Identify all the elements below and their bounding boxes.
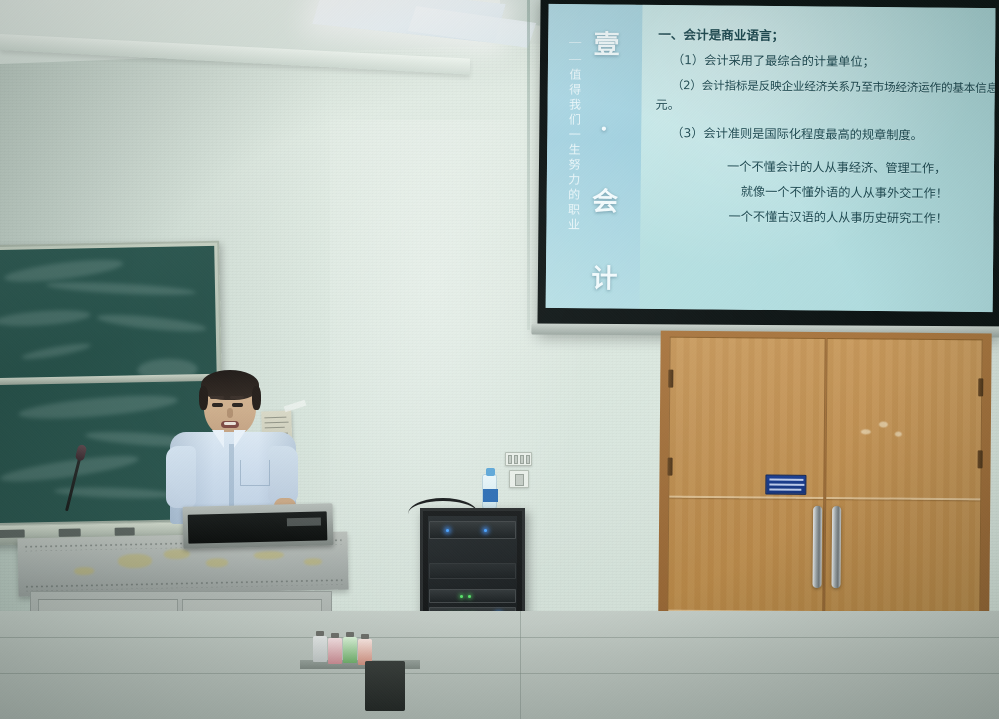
- presenter-collar-left: [212, 430, 224, 448]
- presenter-shirt-pocket: [240, 460, 270, 486]
- slide-line-3: （3）会计准则是国际化程度最高的规章制度。: [671, 126, 995, 144]
- classroom-floor: [0, 611, 999, 719]
- slide-quote-3: 一个不懂古汉语的人从事历史研究工作！: [728, 210, 995, 228]
- slide-line-1: （1）会计采用了最综合的计量单位；: [672, 53, 996, 71]
- light-switch-panel-upper[interactable]: [505, 452, 532, 466]
- rack-unit-blank: [429, 563, 516, 579]
- podium-control-monitor[interactable]: [183, 503, 334, 549]
- rack-unit-mixer[interactable]: [429, 589, 516, 603]
- light-switch-panel-lower[interactable]: [509, 470, 529, 488]
- slide-body: 一、会计是商业语言； （1）会计采用了最综合的计量单位； （2）会计指标是反映企…: [640, 5, 996, 312]
- presenter-sleeve-right: [268, 446, 298, 504]
- door-hinge-top-right: [978, 378, 983, 396]
- door-sign: [765, 474, 806, 494]
- door-hinge-mid-left: [667, 458, 672, 476]
- presenter-hair-right: [252, 386, 261, 410]
- slide-sidebar-title: 壹 . 会 计: [584, 30, 624, 301]
- presenter-eye-left: [212, 403, 223, 407]
- presenter-sleeve-left: [166, 446, 196, 508]
- slide-sidebar-subtitle: ——值得我们一生努力的职业: [565, 34, 584, 233]
- slide-quote-2: 就像一个不懂外语的人从事外交工作！: [741, 185, 996, 203]
- projected-slide: 壹 . 会 计 ——值得我们一生努力的职业 一、会计是商业语言； （1）会计采用…: [546, 4, 996, 312]
- presenter-brow-left: [210, 396, 224, 399]
- presenter: [168, 372, 300, 522]
- slide-quote-1: 一个不懂会计的人从事经济、管理工作，: [727, 160, 996, 178]
- slide-line-2: （2）会计指标是反映企业经济关系乃至市场经济运作的基本信息单: [672, 78, 996, 96]
- door-hinge-mid-right: [978, 450, 983, 468]
- presenter-mouth: [221, 421, 239, 428]
- presenter-nose: [227, 408, 233, 418]
- waste-bin: [365, 661, 405, 711]
- bottle-label: [483, 489, 498, 502]
- supply-bottle-1: [313, 636, 327, 662]
- supply-bottle-2: [328, 638, 342, 664]
- supply-bottle-3: [343, 637, 357, 663]
- monitor-glare: [287, 517, 321, 526]
- door-handle-left[interactable]: [812, 506, 822, 588]
- lecture-hall-photo: 壹 . 会 计 ——值得我们一生努力的职业 一、会计是商业语言； （1）会计采用…: [0, 0, 999, 719]
- door-handle-right[interactable]: [831, 506, 841, 588]
- presenter-shirt-placket: [229, 444, 234, 514]
- presenter-hair-left: [199, 386, 208, 410]
- presenter-collar-right: [234, 430, 246, 448]
- wall-corner-edge: [527, 0, 530, 330]
- slide-heading: 一、会计是商业语言；: [658, 27, 995, 46]
- presenter-eye-right: [232, 403, 243, 407]
- projection-screen[interactable]: 壹 . 会 计 ——值得我们一生努力的职业 一、会计是商业语言； （1）会计采用…: [537, 0, 999, 336]
- monitor-screen: [188, 511, 328, 543]
- door-hinge-top-left: [668, 370, 673, 388]
- bottle-cap: [486, 468, 495, 476]
- presenter-brow-right: [230, 396, 244, 399]
- slide-line-2-wrap: 元。: [655, 98, 995, 117]
- podium-vent-bottom: [24, 578, 342, 592]
- rack-unit-amplifier[interactable]: [429, 521, 516, 539]
- water-bottle[interactable]: [482, 474, 497, 510]
- slide-sidebar: 壹 . 会 计 ——值得我们一生努力的职业: [546, 4, 643, 309]
